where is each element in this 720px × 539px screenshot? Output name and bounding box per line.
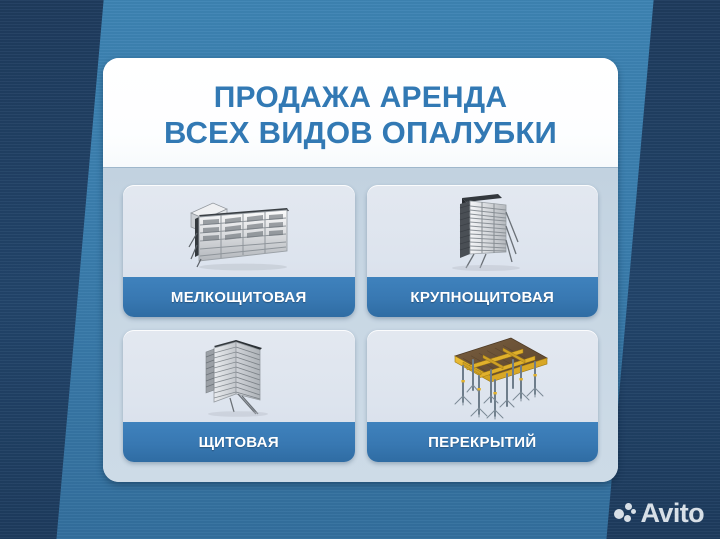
- poster-canvas: ПРОДАЖА АРЕНДА ВСЕХ ВИДОВ ОПАЛУБКИ: [0, 0, 720, 539]
- tile-art: [123, 330, 355, 422]
- avito-wordmark: Avito: [641, 500, 705, 527]
- main-panel: ПРОДАЖА АРЕНДА ВСЕХ ВИДОВ ОПАЛУБКИ: [103, 58, 618, 482]
- tile-small-panel-formwork[interactable]: МЕЛКОЩИТОВАЯ: [123, 185, 355, 317]
- large-panel-formwork-icon: [422, 188, 542, 274]
- tile-label: ПЕРЕКРЫТИЙ: [367, 422, 599, 462]
- tile-slab-formwork[interactable]: ПЕРЕКРЫТИЙ: [367, 330, 599, 462]
- avito-watermark: Avito: [614, 500, 705, 527]
- tile-panel-formwork[interactable]: ЩИТОВАЯ: [123, 330, 355, 462]
- small-panel-formwork-icon: [169, 189, 309, 273]
- tile-label: МЕЛКОЩИТОВАЯ: [123, 277, 355, 317]
- tile-label: КРУПНОЩИТОВАЯ: [367, 277, 599, 317]
- tile-large-panel-formwork[interactable]: КРУПНОЩИТОВАЯ: [367, 185, 599, 317]
- tile-label: ЩИТОВАЯ: [123, 422, 355, 462]
- tile-art: [123, 185, 355, 277]
- slab-formwork-icon: [407, 330, 557, 422]
- panel-formwork-icon: [184, 332, 294, 420]
- avito-dots-icon: [614, 503, 636, 525]
- tile-art: [367, 185, 599, 277]
- tile-grid: МЕЛКОЩИТОВАЯ: [103, 167, 618, 482]
- title-line-2: ВСЕХ ВИДОВ ОПАЛУБКИ: [164, 115, 557, 150]
- title-line-1: ПРОДАЖА АРЕНДА: [214, 80, 507, 115]
- title-block: ПРОДАЖА АРЕНДА ВСЕХ ВИДОВ ОПАЛУБКИ: [103, 58, 618, 167]
- tile-art: [367, 330, 599, 422]
